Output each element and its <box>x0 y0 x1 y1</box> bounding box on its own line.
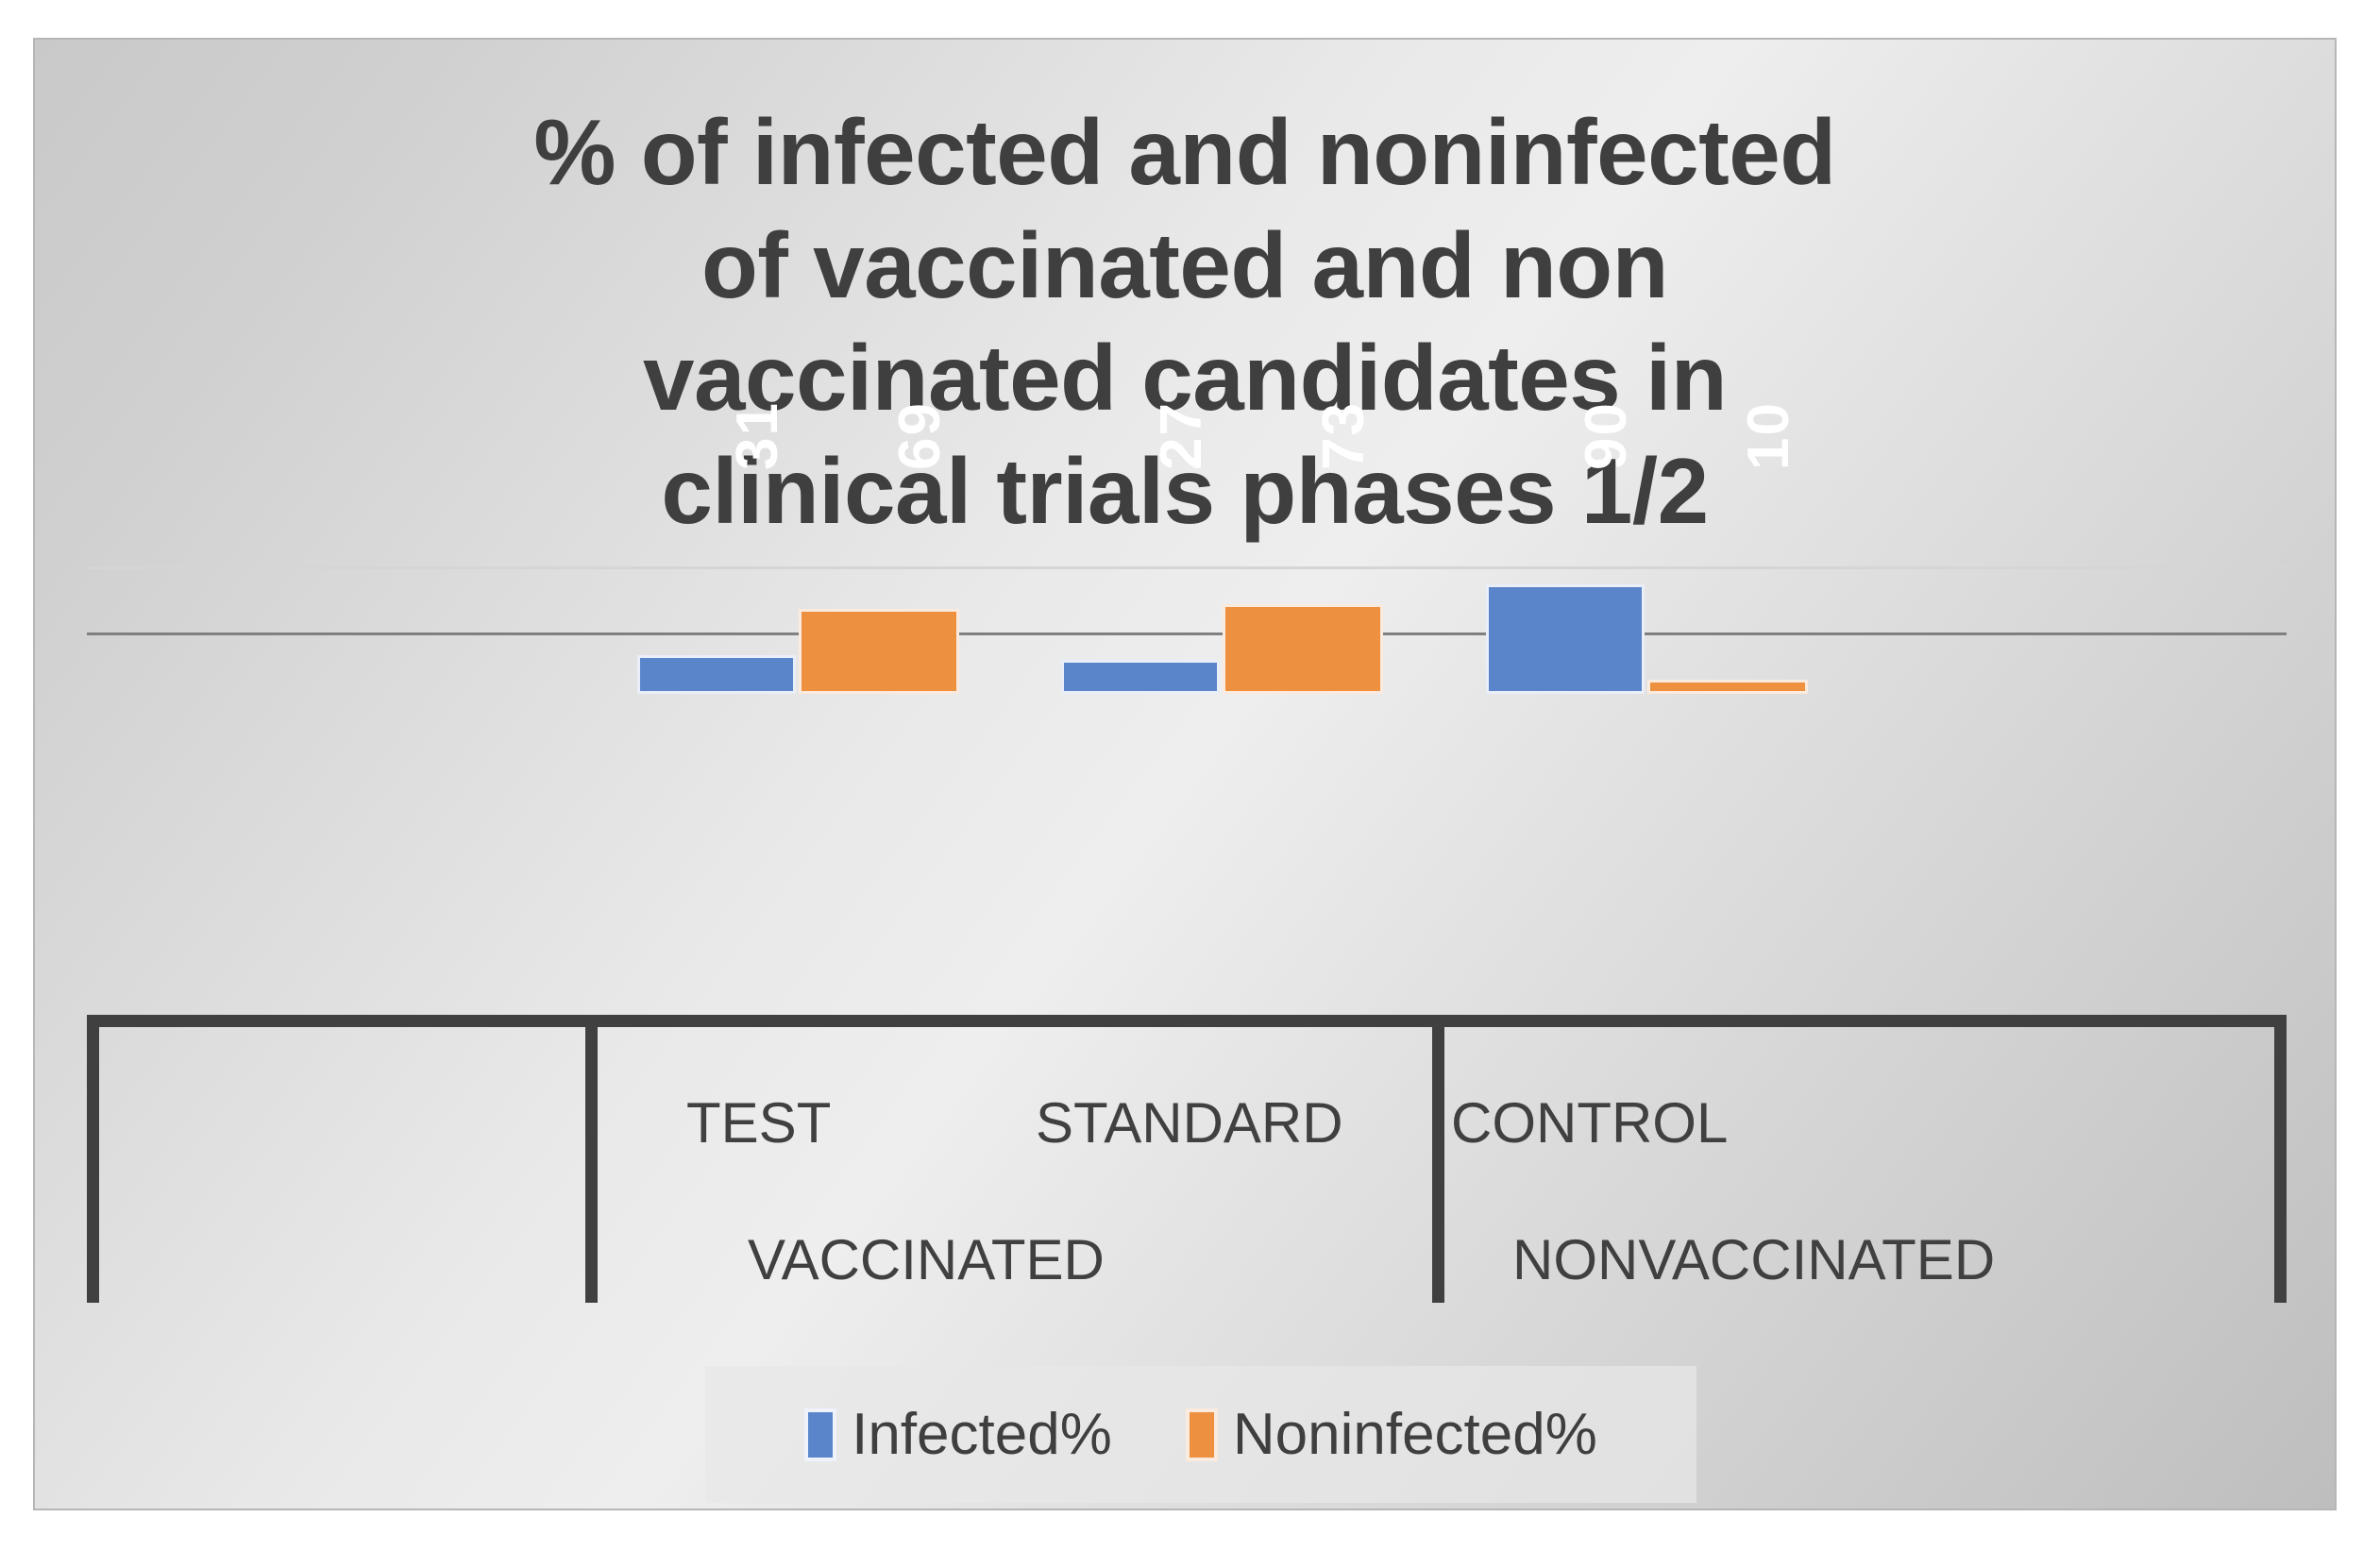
bar-label-standard-infected: 27 <box>1153 401 1211 470</box>
legend-label-infected: Infected% <box>852 1406 1112 1464</box>
bar-label-test-infected: 31 <box>729 401 787 470</box>
plot-area: 31 69 27 73 90 10 <box>35 516 2338 1017</box>
bar-control-noninfected[interactable] <box>1647 680 1808 694</box>
axis-group-label-vaccinated: VACCINATED <box>748 1227 1105 1292</box>
chart-legend: Infected% Noninfected% <box>705 1366 1696 1503</box>
bar-test-noninfected[interactable] <box>799 609 959 694</box>
axis-group-label-nonvaccinated: NONVACCINATED <box>1512 1227 1995 1292</box>
chart-title-line-1: % of infected and noninfected <box>35 96 2335 210</box>
bar-label-control-infected: 90 <box>1578 401 1636 470</box>
bar-test-infected[interactable] <box>637 655 796 694</box>
bar-label-test-noninfected: 69 <box>891 401 950 470</box>
axis-tick-right-edge <box>2274 1027 2287 1303</box>
bar-label-control-noninfected: 10 <box>1740 401 1798 470</box>
axis-tick-1 <box>585 1027 598 1303</box>
axis-line <box>87 1015 2287 1027</box>
axis-tick-2 <box>1432 1027 1444 1303</box>
axis-tick-left-edge <box>87 1027 99 1303</box>
axis-category-label-control: CONTROL <box>1451 1090 1728 1155</box>
axis-category-label-standard: STANDARD <box>1036 1090 1343 1155</box>
chart-title-line-2: of vaccinated and non <box>35 210 2335 323</box>
bar-standard-infected[interactable] <box>1061 660 1220 694</box>
chart-container: % of infected and noninfected of vaccina… <box>33 38 2337 1510</box>
chart-title: % of infected and noninfected of vaccina… <box>35 96 2335 548</box>
bar-label-standard-noninfected: 73 <box>1315 401 1374 470</box>
axis-category-label-test: TEST <box>686 1090 831 1155</box>
legend-swatch-icon-infected <box>804 1408 836 1461</box>
category-axis: TEST STANDARD CONTROL VACCINATED NONVACC… <box>35 1015 2338 1298</box>
legend-swatch-icon-noninfected <box>1186 1408 1218 1461</box>
bars-layer: 31 69 27 73 90 10 <box>35 516 2338 694</box>
legend-item-infected[interactable]: Infected% <box>804 1406 1112 1464</box>
legend-label-noninfected: Noninfected% <box>1233 1406 1597 1464</box>
bar-standard-noninfected[interactable] <box>1223 604 1383 694</box>
legend-item-noninfected[interactable]: Noninfected% <box>1186 1406 1597 1464</box>
bar-control-infected[interactable] <box>1486 584 1645 694</box>
